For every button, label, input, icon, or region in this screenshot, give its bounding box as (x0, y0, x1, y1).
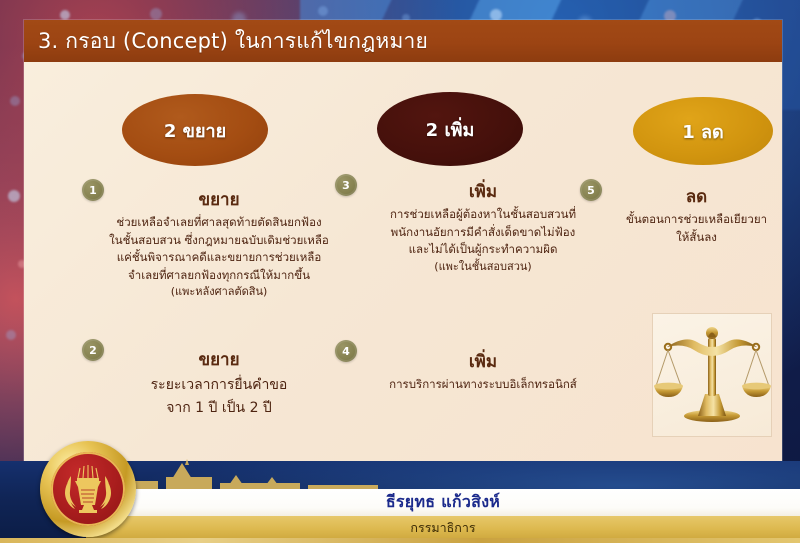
item-3-heading: เพิ่ม (358, 182, 608, 203)
item-1-line: ช่วยเหลือจำเลยที่ศาลสุดท้ายตัดสินยกฟ้อง (84, 214, 354, 231)
item-block-2: ขยาย ระยะเวลาการยื่นคำขอ จาก 1 ปี เป็น 2… (84, 350, 354, 420)
item-block-3: เพิ่ม การช่วยเหลือผู้ต้องหาในชั้นสอบสวนท… (358, 182, 608, 275)
item-5-heading: ลด (609, 187, 782, 208)
category-ellipse-add: 2 เพิ่ม (377, 92, 523, 166)
bokeh-dot (6, 330, 16, 340)
bokeh-dot (318, 6, 328, 16)
item-1-line: (แพะหลังศาลตัดสิน) (84, 284, 354, 301)
lower-third: ธีรยุทธ แก้วสิงห์ กรรมาธิการ (0, 461, 800, 543)
scales-icon (653, 314, 771, 436)
item-3-line: (แพะในชั้นสอบสวน) (358, 259, 608, 276)
item-block-4: เพิ่ม การบริการผ่านทางระบบอิเล็กทรอนิกส์ (358, 352, 608, 394)
speaker-name-band: ธีรยุทธ แก้วสิงห์ (86, 489, 800, 516)
category-ellipse-reduce-label: 1 ลด (682, 117, 724, 146)
slide-title: 3. กรอบ (Concept) ในการแก้ไขกฎหมาย (24, 20, 782, 62)
presentation-slide: 3. กรอบ (Concept) ในการแก้ไขกฎหมาย 2 ขยา… (24, 20, 782, 463)
speaker-role-band: กรรมาธิการ (86, 516, 800, 539)
item-1-line: แค่ชั้นพิจารณาคดีและขยายการช่วยเหลือ (84, 249, 354, 266)
slide-body: 2 ขยาย 2 เพิ่ม 1 ลด 1 2 3 4 5 ขยาย ช่วยเ… (24, 62, 782, 463)
thai-parliament-seal (40, 441, 136, 537)
item-3-line: พนักงานอัยการมีคำสั่งเด็ดขาดไม่ฟ้อง (358, 224, 608, 241)
seal-emblem (51, 452, 125, 526)
category-ellipse-reduce: 1 ลด (633, 97, 773, 165)
item-2-line: ระยะเวลาการยื่นคำขอ (84, 374, 354, 397)
scales-of-justice-image (653, 314, 771, 436)
bokeh-dot (150, 8, 162, 20)
item-2-line: จาก 1 ปี เป็น 2 ปี (84, 397, 354, 420)
screen: 3. กรอบ (Concept) ในการแก้ไขกฎหมาย 2 ขยา… (0, 0, 800, 543)
item-4-line: การบริการผ่านทางระบบอิเล็กทรอนิกส์ (358, 376, 608, 393)
speaker-name: ธีรยุทธ แก้วสิงห์ (386, 490, 500, 515)
category-ellipse-expand: 2 ขยาย (122, 94, 268, 166)
item-3-line: และไม่ได้เป็นผู้กระทำความผิด (358, 241, 608, 258)
bokeh-dot (10, 96, 20, 106)
item-1-heading: ขยาย (84, 190, 354, 211)
item-3-line: การช่วยเหลือผู้ต้องหาในชั้นสอบสวนที่ (358, 206, 608, 223)
item-2-heading: ขยาย (84, 350, 354, 371)
item-block-5: ลด ขั้นตอนการช่วยเหลือเยียวยา ให้สั้นลง (609, 187, 782, 246)
category-ellipse-expand-label: 2 ขยาย (164, 116, 226, 145)
phan-rath-thathammanoon-icon (53, 454, 123, 524)
speaker-role: กรรมาธิการ (410, 518, 475, 538)
item-5-line: ขั้นตอนการช่วยเหลือเยียวยา (609, 211, 782, 228)
item-block-1: ขยาย ช่วยเหลือจำเลยที่ศาลสุดท้ายตัดสินยก… (84, 190, 354, 301)
category-ellipse-add-label: 2 เพิ่ม (426, 115, 475, 144)
item-4-heading: เพิ่ม (358, 352, 608, 373)
bokeh-dot (60, 10, 70, 20)
bokeh-dot (8, 190, 20, 202)
bottom-gold-strip (0, 538, 800, 543)
item-5-line: ให้สั้นลง (609, 229, 782, 246)
item-1-line: จำเลยที่ศาลยกฟ้องทุกกรณีให้มากขึ้น (84, 267, 354, 284)
item-1-line: ในชั้นสอบสวน ซึ่งกฎหมายฉบับเดิมช่วยเหลือ (84, 232, 354, 249)
